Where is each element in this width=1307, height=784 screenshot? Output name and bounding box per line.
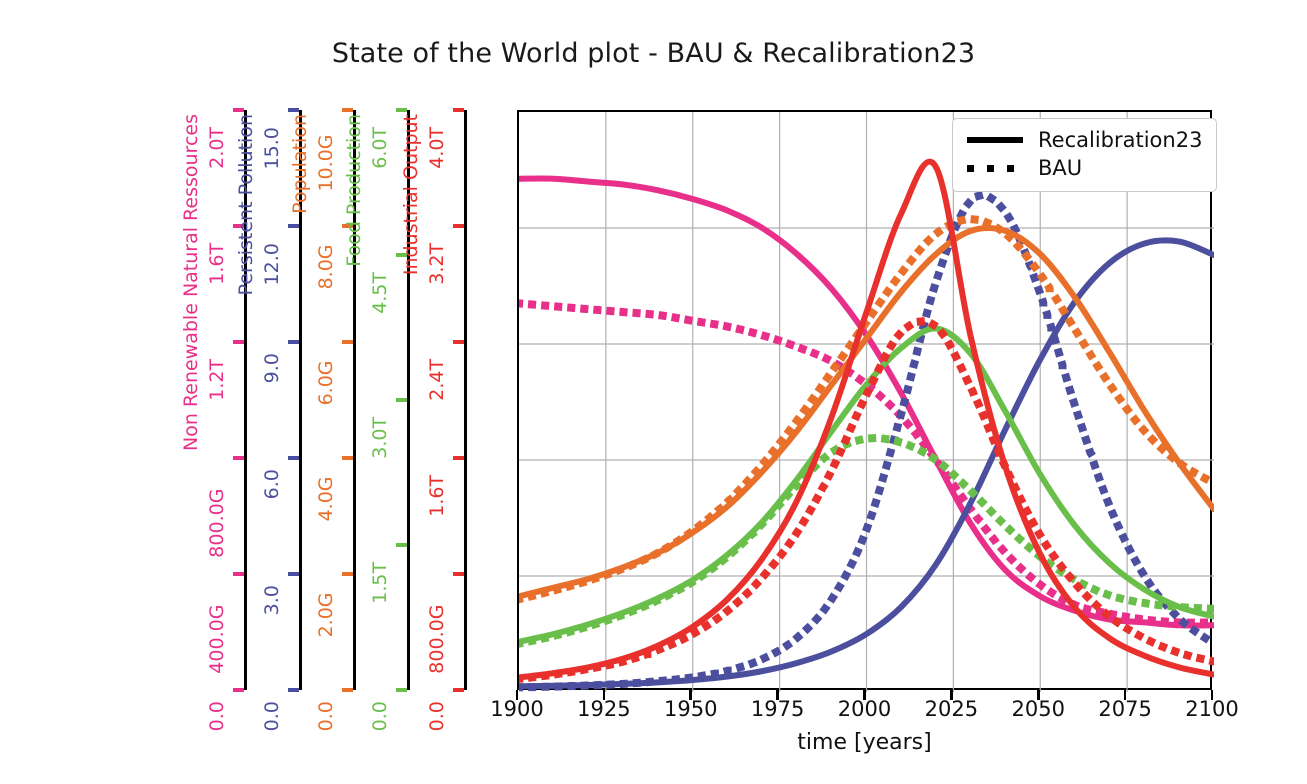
axis-tick-label: 0.0 <box>369 701 391 731</box>
axis-tick-label: 12.0 <box>261 243 283 285</box>
axis-tick-label: 800.0G <box>206 489 228 558</box>
axis-tick <box>342 456 353 459</box>
axis-tick <box>453 688 464 691</box>
axis-tick <box>342 572 353 575</box>
x-axis-label: time [years] <box>517 730 1212 755</box>
axis-tick-label: 3.0 <box>261 585 283 615</box>
data-curves <box>519 112 1214 692</box>
axis-tick <box>233 456 244 459</box>
axis-tick <box>453 108 464 111</box>
axis-tick-label: 0.0 <box>315 701 337 731</box>
axis-tick-label: 800.0G <box>426 605 448 674</box>
axis-tick <box>288 456 299 459</box>
axis-tick-label: 2.0G <box>315 592 337 637</box>
x-tick-label: 2025 <box>925 697 978 721</box>
axis-title-4: Industrial Output <box>400 114 422 275</box>
axis-tick-label: 1.6T <box>206 243 228 285</box>
x-tick-label: 1925 <box>577 697 630 721</box>
series-4 <box>519 228 1214 596</box>
x-tick-label: 2050 <box>1012 697 1065 721</box>
axis-tick <box>453 224 464 227</box>
axis-tick-label: 10.0G <box>315 135 337 192</box>
axis-title-0: Non Renewable Natural Ressources <box>180 114 202 451</box>
legend-label-recalibration23: Recalibration23 <box>1038 128 1202 152</box>
chart-page: State of the World plot - BAU & Recalibr… <box>0 0 1307 784</box>
x-tick-label: 2100 <box>1185 697 1238 721</box>
x-tick-label: 2000 <box>838 697 891 721</box>
axis-title-1: Persistent Pollution <box>235 114 257 295</box>
axis-tick <box>342 688 353 691</box>
axis-title-3: Food Production <box>343 114 365 267</box>
legend-item-bau[interactable]: BAU <box>965 154 1202 182</box>
legend-item-recalibration23[interactable]: Recalibration23 <box>965 126 1202 154</box>
axis-tick <box>233 688 244 691</box>
axis-tick <box>233 108 244 111</box>
legend-swatch-dotted <box>965 158 1025 178</box>
axis-tick <box>233 572 244 575</box>
axis-tick <box>396 543 407 546</box>
axis-tick-label: 2.4T <box>426 359 448 401</box>
axis-tick-label: 4.0G <box>315 476 337 521</box>
axis-tick-label: 1.6T <box>426 475 448 517</box>
axis-tick-label: 15.0 <box>261 127 283 169</box>
axis-tick-label: 6.0 <box>261 469 283 499</box>
axis-tick-label: 2.0T <box>206 127 228 169</box>
axis-tick-label: 4.0T <box>426 127 448 169</box>
axis-tick-label: 6.0T <box>369 127 391 169</box>
axis-tick-label: 0.0 <box>261 701 283 731</box>
series-5 <box>519 219 1214 599</box>
axis-tick <box>453 572 464 575</box>
plot-area <box>517 110 1212 690</box>
axis-tick-label: 1.2T <box>206 359 228 401</box>
axis-tick-label: 6.0G <box>315 360 337 405</box>
x-tick-label: 1900 <box>490 697 543 721</box>
axis-tick-label: 4.5T <box>369 272 391 314</box>
axis-tick <box>396 108 407 111</box>
axis-tick-label: 8.0G <box>315 244 337 289</box>
axis-tick-label: 9.0 <box>261 353 283 383</box>
axis-tick-label: 3.0T <box>369 417 391 459</box>
axis-tick <box>288 572 299 575</box>
axis-tick <box>342 108 353 111</box>
axis-spine-4 <box>464 110 467 690</box>
axis-tick <box>396 688 407 691</box>
axis-tick <box>288 224 299 227</box>
axis-tick-label: 3.2T <box>426 243 448 285</box>
page-title: State of the World plot - BAU & Recalibr… <box>0 38 1307 69</box>
axis-tick <box>453 456 464 459</box>
axis-tick <box>342 340 353 343</box>
legend[interactable]: Recalibration23 BAU <box>952 118 1217 192</box>
axis-tick <box>453 340 464 343</box>
axis-tick <box>288 688 299 691</box>
axis-tick-label: 400.0G <box>206 605 228 674</box>
x-tick-label: 1950 <box>664 697 717 721</box>
legend-label-bau: BAU <box>1038 156 1082 180</box>
axis-title-2: Population <box>289 114 311 214</box>
axis-tick <box>288 108 299 111</box>
axis-tick <box>288 340 299 343</box>
x-tick-label: 1975 <box>751 697 804 721</box>
series-8 <box>519 162 1214 678</box>
legend-swatch-solid <box>965 130 1025 150</box>
axis-tick <box>233 340 244 343</box>
axis-tick <box>396 398 407 401</box>
axis-tick-label: 1.5T <box>369 562 391 604</box>
axis-tick-label: 0.0 <box>206 701 228 731</box>
axis-tick-label: 0.0 <box>426 701 448 731</box>
x-tick-label: 2075 <box>1098 697 1151 721</box>
